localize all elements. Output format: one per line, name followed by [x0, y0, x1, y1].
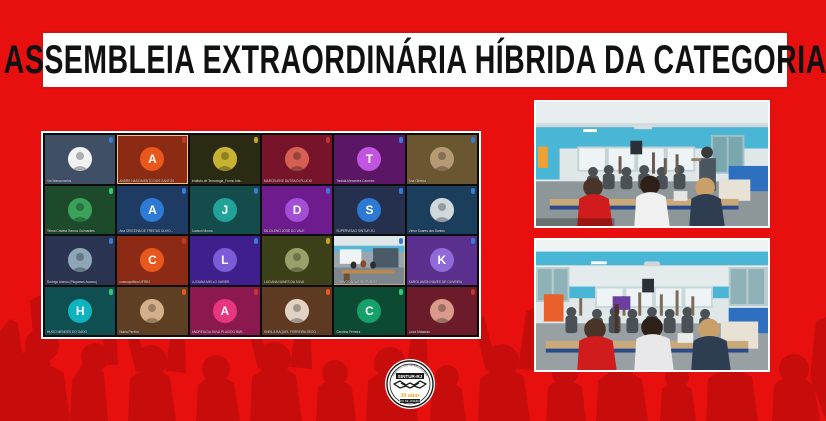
participant-name-label: LUCIANA NUNES DA SILVA [264, 280, 320, 284]
participant-initial-avatar: J [213, 198, 237, 222]
microphone-status-icon [399, 188, 403, 194]
microphone-status-icon [182, 188, 186, 194]
participant-tile[interactable]: SHEILA RAQUEL FERREIRA SEGOVIA [262, 287, 332, 336]
participant-name-label: Nubia Pereira [119, 330, 175, 334]
participant-name-label: Ana CRISTINA DE FREITAS OLIVO... [119, 229, 175, 233]
participant-name-label: cosmopolitica UFRRJ [119, 280, 175, 284]
microphone-status-icon [399, 238, 403, 244]
participant-photo-avatar [140, 299, 164, 323]
video-grid-row: HHUGO MENDES DO GADONubia PereiraAANDREI… [45, 287, 477, 336]
microphone-status-icon [182, 137, 186, 143]
participant-photo-avatar [430, 198, 454, 222]
microphone-status-icon [182, 289, 186, 295]
participant-tile[interactable]: AANDRE NASCIMENTO DOS SANTOS [117, 135, 187, 184]
participant-name-label: KAROL AMON NAVES DE OLIVEIRA [409, 280, 465, 284]
participant-name-label: ANDRE NASCIMENTO DOS SANTOS [119, 179, 175, 183]
participant-name-label: Rodrigo Alonso (Plugamos Avanco) [47, 280, 103, 284]
participant-initial-avatar: A [140, 147, 164, 171]
participant-name-label: HUGO MENDES DO GADO [47, 330, 103, 334]
sintur-rj-logo: SINTUR-RJ 30 anos RIO DE JANEIRO SINDICA… [384, 358, 436, 410]
participant-initial-avatar: D [285, 198, 309, 222]
participant-name-label: Ana Oliveira [409, 179, 465, 183]
participant-tile[interactable]: Luiza Malasian [407, 287, 477, 336]
participant-initial-avatar: S [357, 198, 381, 222]
participant-tile[interactable]: LUCIANA NUNES DA SILVA [262, 236, 332, 285]
participant-tile[interactable]: Instituto de Tecnologia_Formu Inte... [190, 135, 260, 184]
participant-photo-avatar [285, 299, 309, 323]
video-grid-row: Via WasconcelosAANDRE NASCIMENTO DOS SAN… [45, 135, 477, 184]
participant-tile[interactable]: HHUGO MENDES DO GADO [45, 287, 115, 336]
microphone-status-icon [109, 137, 113, 143]
participant-name-label: SUPERVISAO SINTUR-RJ [336, 229, 392, 233]
microphone-status-icon [471, 289, 475, 295]
participant-initial-avatar: H [68, 299, 92, 323]
participant-name-label: SHEILA RAQUEL FERREIRA SEGOVIA [264, 330, 320, 334]
participant-name-label: LUCIANA MELLO XAVIER [192, 280, 248, 284]
microphone-status-icon [326, 289, 330, 295]
participant-tile[interactable]: Vimor Soares dos Santos [407, 186, 477, 235]
participant-initial-avatar: C [140, 248, 164, 272]
microphone-status-icon [254, 238, 258, 244]
participant-tile[interactable]: Telma Cristina Ramos Guimarães [45, 186, 115, 235]
participant-tile[interactable]: CONVOCACAO SINTUR-RJ [334, 236, 404, 285]
participant-initial-avatar: C [357, 299, 381, 323]
participant-initial-avatar: A [140, 198, 164, 222]
live-video-feed [334, 236, 404, 285]
participant-photo-avatar [285, 248, 309, 272]
microphone-status-icon [399, 137, 403, 143]
video-grid-row: Telma Cristina Ramos GuimarãesAAna CRIST… [45, 186, 477, 235]
logo-bottom-text: RIO DE JANEIRO [400, 399, 421, 403]
participant-initial-avatar: K [430, 248, 454, 272]
participant-name-label: Tanilda Mercedes Carneiro [336, 179, 392, 183]
participant-tile[interactable]: MARCELENE DUTRA DI FLUCIO [262, 135, 332, 184]
participant-name-label: DILCILENO JOSE DO VALE [264, 229, 320, 233]
participant-initial-avatar: T [357, 147, 381, 171]
participant-name-label: CONVOCACAO SINTUR-RJ [336, 280, 392, 284]
participant-tile[interactable]: SSUPERVISAO SINTUR-RJ [334, 186, 404, 235]
participant-tile[interactable]: TTanilda Mercedes Carneiro [334, 135, 404, 184]
microphone-status-icon [471, 238, 475, 244]
participant-tile[interactable]: DDILCILENO JOSE DO VALE [262, 186, 332, 235]
microphone-status-icon [109, 238, 113, 244]
participant-photo-avatar [213, 147, 237, 171]
participant-name-label: Via Wasconcelos [47, 179, 103, 183]
participant-name-label: Carolina Ferreira [336, 330, 392, 334]
assembly-photo-1 [534, 100, 770, 228]
microphone-status-icon [326, 238, 330, 244]
microphone-status-icon [109, 289, 113, 295]
title-banner: ASSEMBLEIA EXTRAORDINÁRIA HÍBRIDA DA CAT… [41, 31, 789, 89]
video-conference-grid[interactable]: Via WasconcelosAANDRE NASCIMENTO DOS SAN… [41, 131, 481, 339]
participant-tile[interactable]: LLUCIANA MELLO XAVIER [190, 236, 260, 285]
assembly-photo-2 [534, 238, 770, 372]
participant-tile[interactable]: Ccosmopolitica UFRRJ [117, 236, 187, 285]
page-title: ASSEMBLEIA EXTRAORDINÁRIA HÍBRIDA DA CAT… [4, 37, 826, 84]
microphone-status-icon [399, 289, 403, 295]
participant-initial-avatar: A [213, 299, 237, 323]
participant-name-label: Telma Cristina Ramos Guimarães [47, 229, 103, 233]
microphone-status-icon [109, 188, 113, 194]
microphone-status-icon [254, 289, 258, 295]
participant-tile[interactable]: JJoalson Moura [190, 186, 260, 235]
microphone-status-icon [326, 137, 330, 143]
participant-tile[interactable]: AAna CRISTINA DE FREITAS OLIVO... [117, 186, 187, 235]
participant-photo-avatar [68, 248, 92, 272]
participant-tile[interactable]: AANDREIA DA SILVA PLACIDO BAR... [190, 287, 260, 336]
participant-name-label: Joalson Moura [192, 229, 248, 233]
participant-name-label: Luiza Malasian [409, 330, 465, 334]
participant-name-label: MARCELENE DUTRA DI FLUCIO [264, 179, 320, 183]
participant-tile[interactable]: Via Wasconcelos [45, 135, 115, 184]
microphone-status-icon [471, 137, 475, 143]
microphone-status-icon [471, 188, 475, 194]
participant-initial-avatar: L [213, 248, 237, 272]
microphone-status-icon [254, 137, 258, 143]
microphone-status-icon [326, 188, 330, 194]
logo-name: SINTUR-RJ [398, 374, 423, 379]
participant-photo-avatar [430, 299, 454, 323]
microphone-status-icon [182, 238, 186, 244]
microphone-status-icon [254, 188, 258, 194]
participant-tile[interactable]: Rodrigo Alonso (Plugamos Avanco) [45, 236, 115, 285]
participant-name-label: Instituto de Tecnologia_Formu Inte... [192, 179, 248, 183]
video-grid-row: Rodrigo Alonso (Plugamos Avanco)Ccosmopo… [45, 236, 477, 285]
participant-name-label: Vimor Soares dos Santos [409, 229, 465, 233]
participant-tile[interactable]: Ana Oliveira [407, 135, 477, 184]
participant-tile[interactable]: KKAROL AMON NAVES DE OLIVEIRA [407, 236, 477, 285]
participant-photo-avatar [430, 147, 454, 171]
participant-tile[interactable]: CCarolina Ferreira [334, 287, 404, 336]
participant-tile[interactable]: Nubia Pereira [117, 287, 187, 336]
participant-name-label: ANDREIA DA SILVA PLACIDO BAR... [192, 330, 248, 334]
participant-photo-avatar [68, 147, 92, 171]
logo-anniversary: 30 anos [400, 393, 420, 399]
participant-photo-avatar [68, 198, 92, 222]
participant-photo-avatar [285, 147, 309, 171]
